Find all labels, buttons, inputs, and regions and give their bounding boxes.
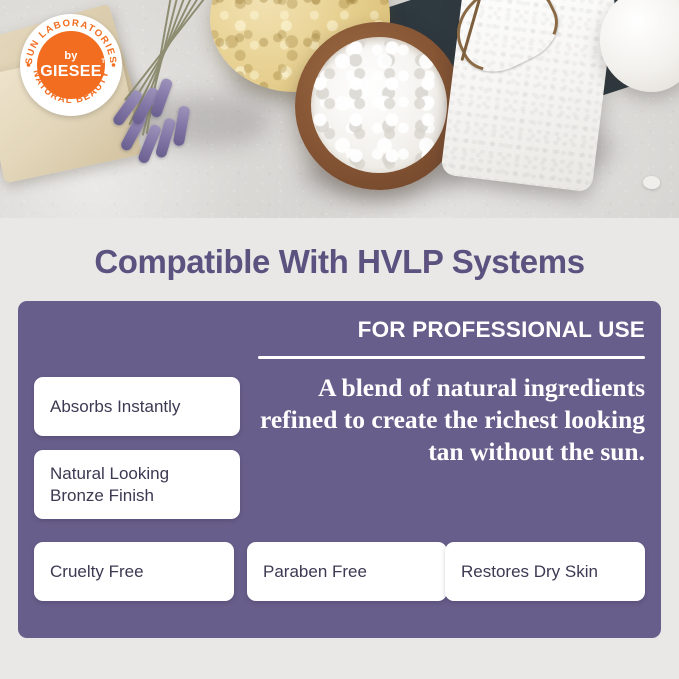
feature-card: Paraben Free <box>247 542 447 601</box>
feature-card: Absorbs Instantly <box>34 377 240 436</box>
hero-photo: SUN LABORATORIES NATURAL BEAUTY by GIESE… <box>0 0 679 218</box>
product-description: A blend of natural ingredients refined t… <box>258 372 645 468</box>
bath-salt <box>311 37 447 173</box>
feature-card: Restores Dry Skin <box>445 542 645 601</box>
feature-card-label: Paraben Free <box>247 561 383 583</box>
feature-card: Natural Looking Bronze Finish <box>34 450 240 519</box>
page-title: Compatible With HVLP Systems <box>0 243 679 281</box>
pebble-icon <box>643 176 660 189</box>
professional-use-title: FOR PROFESSIONAL USE <box>258 318 645 343</box>
logo-by-label: by <box>64 51 77 62</box>
logo-trademark-mark: TM <box>101 59 110 65</box>
logo-brand-name-text: GIESEE <box>40 63 101 80</box>
brand-logo: SUN LABORATORIES NATURAL BEAUTY by GIESE… <box>20 14 122 116</box>
feature-panel: FOR PROFESSIONAL USE A blend of natural … <box>18 301 661 638</box>
feature-card-label: Cruelty Free <box>34 561 160 583</box>
wooden-bowl-icon <box>295 22 463 190</box>
feature-card-label: Restores Dry Skin <box>445 561 614 583</box>
logo-brand-name: GIESEE TM <box>40 64 101 80</box>
divider <box>258 356 645 359</box>
panel-right-column: FOR PROFESSIONAL USE A blend of natural … <box>258 318 645 468</box>
feature-card: Cruelty Free <box>34 542 234 601</box>
product-infographic: SUN LABORATORIES NATURAL BEAUTY by GIESE… <box>0 0 679 679</box>
logo-center: by GIESEE TM <box>37 31 105 99</box>
feature-card-label: Natural Looking Bronze Finish <box>34 463 240 507</box>
feature-card-label: Absorbs Instantly <box>34 396 196 418</box>
